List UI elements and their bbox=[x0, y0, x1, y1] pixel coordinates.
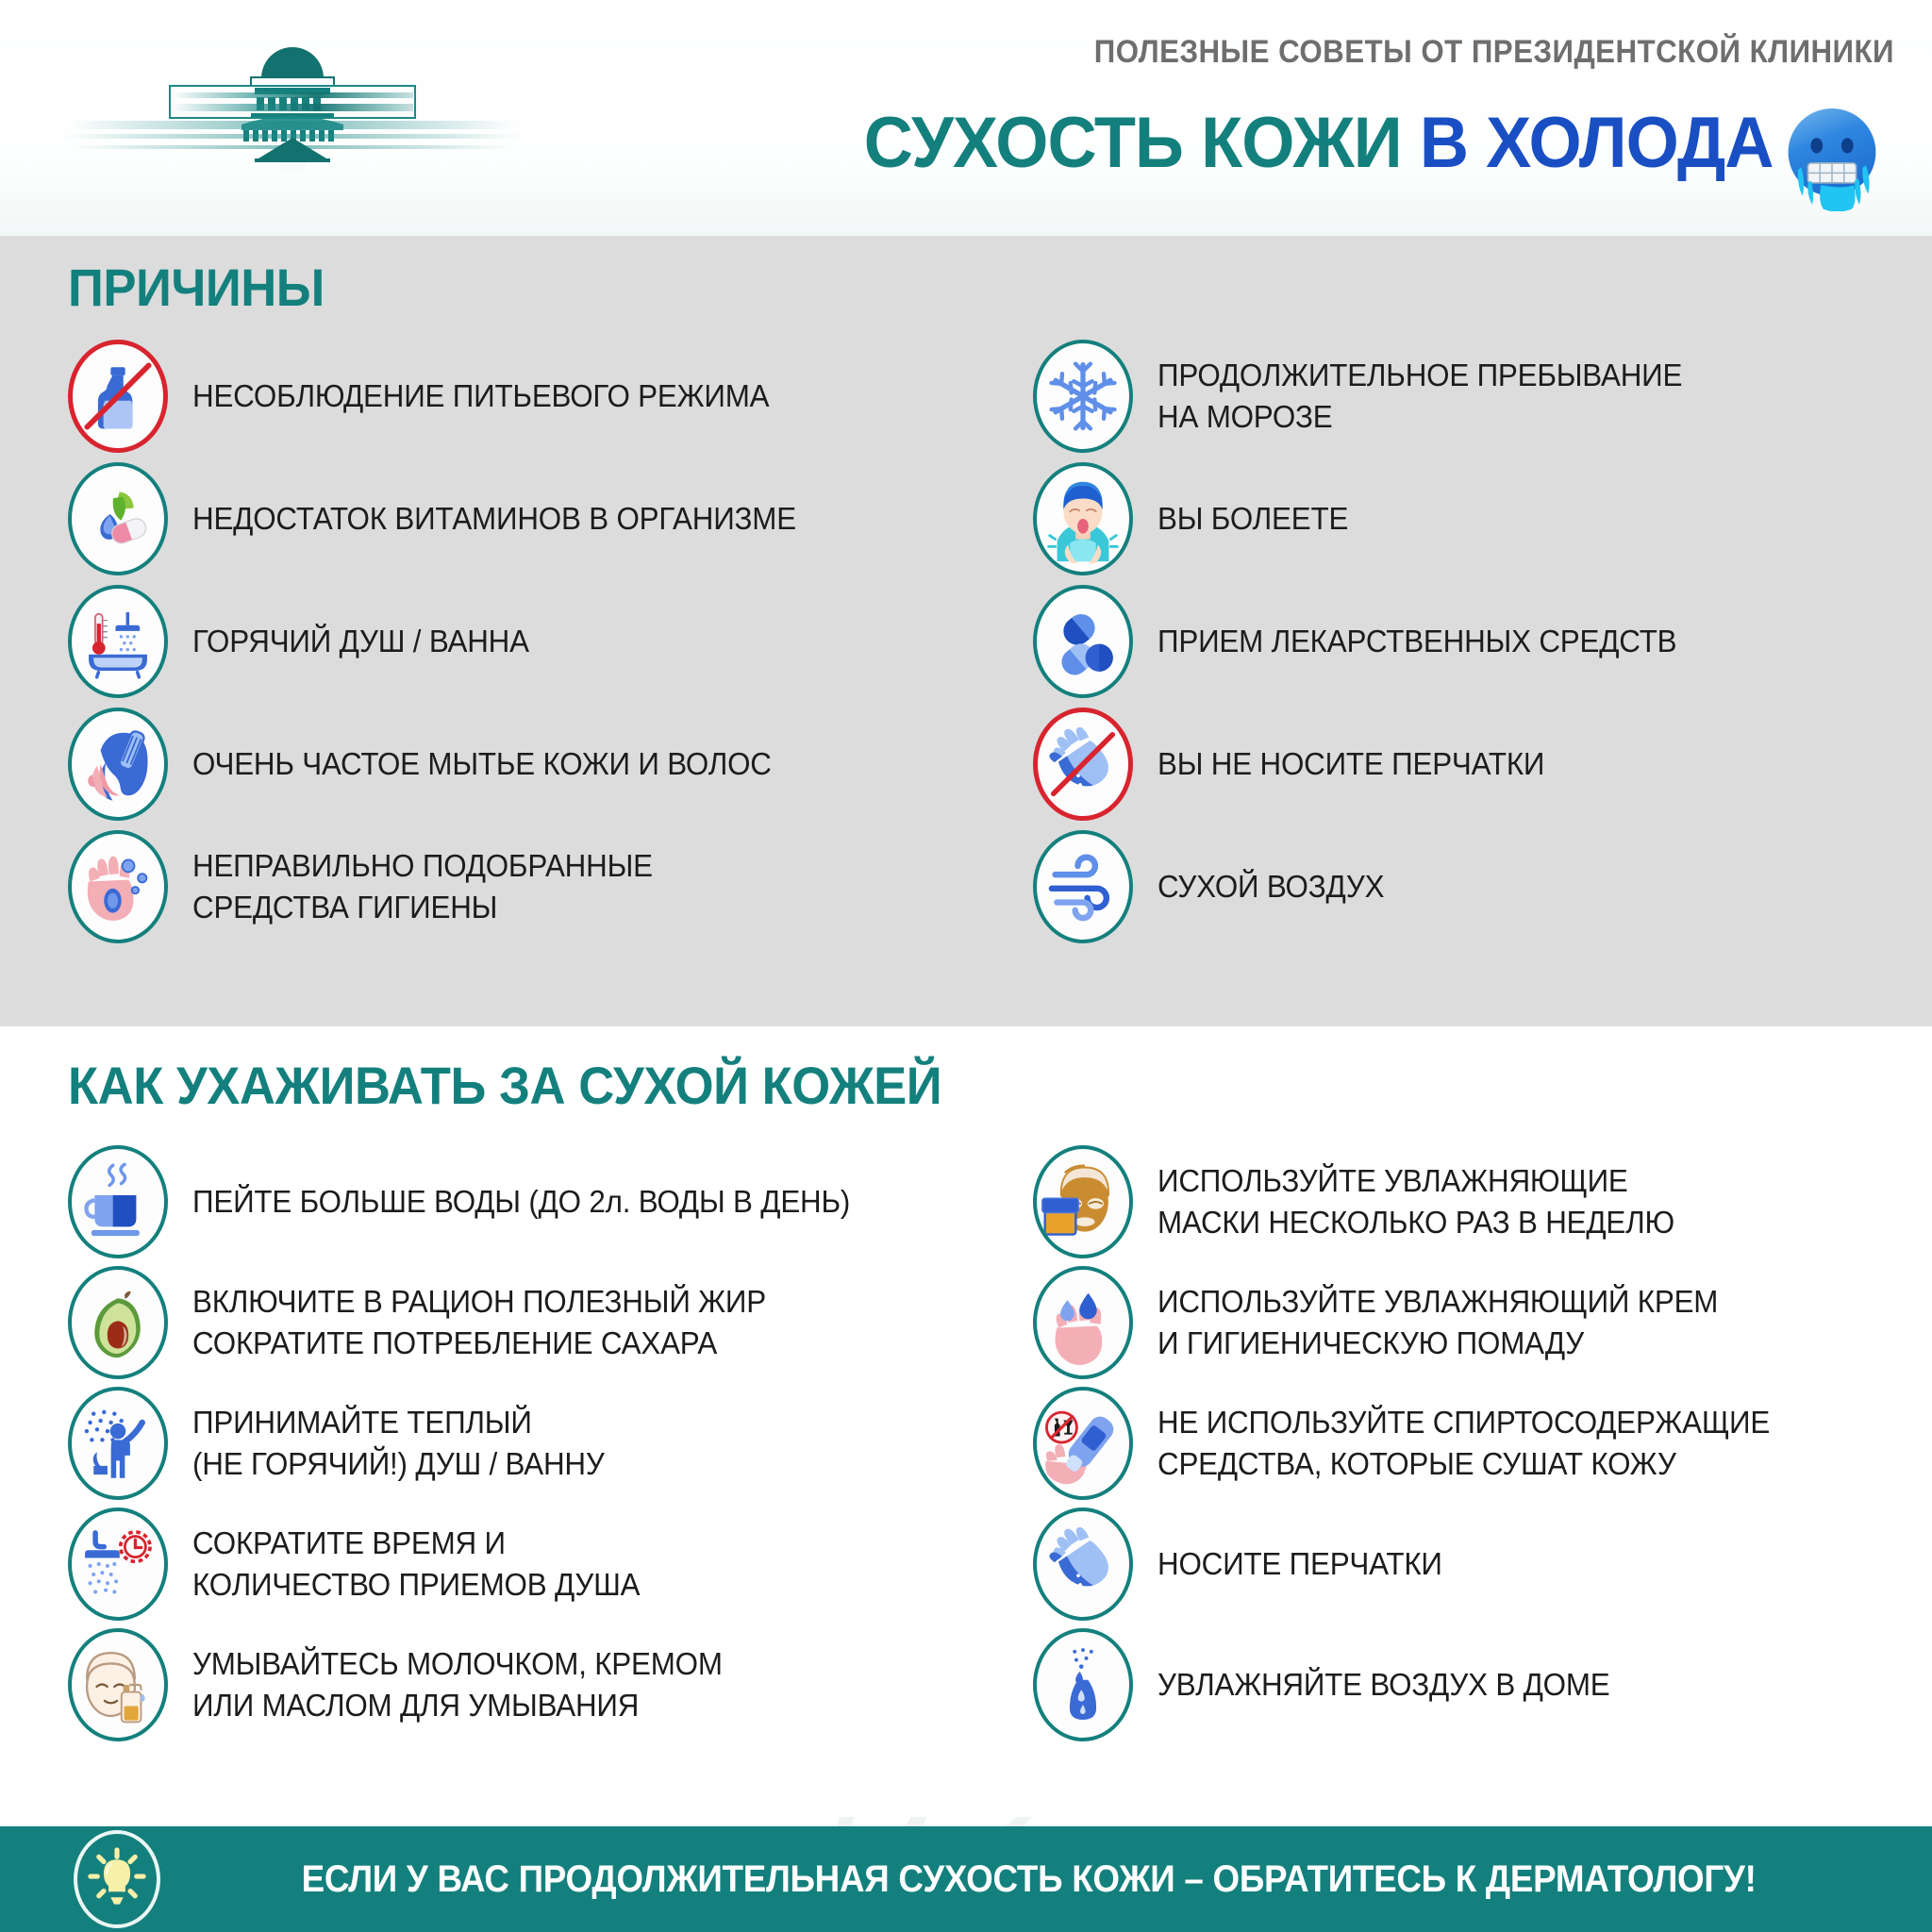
footer-bar: ЕСЛИ У ВАС ПРОДОЛЖИТЕЛЬНАЯ СУХОСТЬ КОЖИ … bbox=[0, 1826, 1932, 1932]
no-water-bottle-icon bbox=[68, 340, 168, 453]
humidifier-icon bbox=[1033, 1628, 1133, 1741]
light-bulb-icon bbox=[74, 1830, 160, 1928]
gloves-icon bbox=[1033, 1507, 1133, 1621]
list-item[interactable]: УМЫВАЙТЕСЬ МОЛОЧКОМ, КРЕМОМ ИЛИ МАСЛОМ Д… bbox=[68, 1628, 750, 1741]
hot-drink-cup-icon bbox=[68, 1145, 168, 1258]
list-item-label: ГОРЯЧИЙ ДУШ / ВАННА bbox=[192, 621, 529, 662]
sick-person-icon bbox=[1033, 462, 1133, 575]
hair-washing-icon bbox=[68, 708, 168, 821]
poster-header: ПОЛЕЗНЫЕ СОВЕТЫ ОТ ПРЕЗИДЕНТСКОЙ КЛИНИКИ… bbox=[0, 0, 1932, 236]
avocado-icon bbox=[68, 1266, 168, 1379]
list-item-label: ВЫ НЕ НОСИТЕ ПЕРЧАТКИ bbox=[1158, 743, 1544, 785]
causes-section: ПРИЧИНЫ НЕСОБЛЮДЕНИЕ ПИТЬЕВОГО РЕЖИМА bbox=[0, 236, 1932, 1026]
list-item[interactable]: НОСИТЕ ПЕРЧАТКИ bbox=[1033, 1507, 1457, 1621]
list-item[interactable]: ВКЛЮЧИТЕ В РАЦИОН ПОЛЕЗНЫЙ ЖИР СОКРАТИТЕ… bbox=[68, 1266, 796, 1379]
list-item-label: НЕ ИСПОЛЬЗУЙТЕ СПИРТОСОДЕРЖАЩИЕ СРЕДСТВА… bbox=[1158, 1402, 1770, 1484]
list-item-label: СОКРАТИТЕ ВРЕМЯ И КОЛИЧЕСТВО ПРИЕМОВ ДУШ… bbox=[192, 1523, 640, 1605]
presidential-clinic-building-logo bbox=[57, 26, 528, 215]
list-item-label: ИСПОЛЬЗУЙТЕ УВЛАЖНЯЮЩИЕ МАСКИ НЕСКОЛЬКО … bbox=[1158, 1160, 1674, 1242]
hygiene-products-hand-icon bbox=[68, 830, 168, 943]
face-cleansing-milk-icon bbox=[68, 1628, 168, 1741]
list-item-label: ПРОДОЛЖИТЕЛЬНОЕ ПРЕБЫВАНИЕ НА МОРОЗЕ bbox=[1158, 355, 1682, 437]
footer-message: ЕСЛИ У ВАС ПРОДОЛЖИТЕЛЬНАЯ СУХОСТЬ КОЖИ … bbox=[231, 1858, 1861, 1901]
list-item-label: ВКЛЮЧИТЕ В РАЦИОН ПОЛЕЗНЫЙ ЖИР СОКРАТИТЕ… bbox=[192, 1281, 766, 1363]
dry-air-wind-icon bbox=[1033, 830, 1133, 943]
list-item[interactable]: СОКРАТИТЕ ВРЕМЯ И КОЛИЧЕСТВО ПРИЕМОВ ДУШ… bbox=[68, 1507, 663, 1621]
list-item[interactable]: ПРИНИМАЙТЕ ТЕПЛЫЙ (НЕ ГОРЯЧИЙ!) ДУШ / ВА… bbox=[68, 1387, 626, 1500]
warm-shower-person-icon bbox=[68, 1387, 168, 1500]
list-item-label: УВЛАЖНЯЙТЕ ВОЗДУХ В ДОМЕ bbox=[1158, 1664, 1609, 1706]
vitamins-pills-icon bbox=[68, 462, 168, 575]
list-item[interactable]: НЕ ИСПОЛЬЗУЙТЕ СПИРТОСОДЕРЖАЩИЕ СРЕДСТВА… bbox=[1033, 1387, 1802, 1500]
infographic-poster: БМЦ БМЦ БМЦ БМЦ БМЦ БМЦ bbox=[0, 0, 1932, 1932]
list-item[interactable]: ПРОДОЛЖИТЕЛЬНОЕ ПРЕБЫВАНИЕ НА МОРОЗЕ bbox=[1033, 340, 1710, 453]
shower-timer-icon bbox=[68, 1507, 168, 1621]
list-item-label: ПЕЙТЕ БОЛЬШЕ ВОДЫ (ДО 2л. ВОДЫ В ДЕНЬ) bbox=[192, 1181, 850, 1223]
list-item-label: ПРИНИМАЙТЕ ТЕПЛЫЙ (НЕ ГОРЯЧИЙ!) ДУШ / ВА… bbox=[192, 1402, 605, 1484]
care-section: КАК УХАЖИВАТЬ ЗА СУХОЙ КОЖЕЙ bbox=[0, 1026, 1932, 1817]
list-item-label: НЕПРАВИЛЬНО ПОДОБРАННЫЕ СРЕДСТВА ГИГИЕНЫ bbox=[192, 845, 653, 927]
list-item-label: НОСИТЕ ПЕРЧАТКИ bbox=[1158, 1543, 1442, 1585]
list-item-label: ПРИЕМ ЛЕКАРСТВЕННЫХ СРЕДСТВ bbox=[1158, 621, 1676, 662]
list-item[interactable]: ВЫ БОЛЕЕТЕ bbox=[1033, 462, 1358, 575]
list-item[interactable]: УВЛАЖНЯЙТЕ ВОЗДУХ В ДОМЕ bbox=[1033, 1628, 1634, 1741]
page-title-part2: В ХОЛОДА bbox=[1420, 103, 1774, 183]
list-item[interactable]: ИСПОЛЬЗУЙТЕ УВЛАЖНЯЮЩИЕ МАСКИ НЕСКОЛЬКО … bbox=[1033, 1145, 1702, 1258]
list-item[interactable]: НЕДОСТАТОК ВИТАМИНОВ В ОРГАНИЗМЕ bbox=[68, 462, 828, 575]
list-item[interactable]: НЕПРАВИЛЬНО ПОДОБРАННЫЕ СРЕДСТВА ГИГИЕНЫ bbox=[68, 830, 677, 943]
list-item-label: ИСПОЛЬЗУЙТЕ УВЛАЖНЯЮЩИЙ КРЕМ И ГИГИЕНИЧЕ… bbox=[1158, 1281, 1718, 1363]
list-item-label: НЕДОСТАТОК ВИТАМИНОВ В ОРГАНИЗМЕ bbox=[192, 498, 796, 540]
snowflake-icon bbox=[1033, 340, 1133, 453]
list-item-label: НЕСОБЛЮДЕНИЕ ПИТЬЕВОГО РЕЖИМА bbox=[192, 375, 769, 417]
moisturizing-hand-icon bbox=[1033, 1266, 1133, 1379]
list-item[interactable]: ПРИЕМ ЛЕКАРСТВЕННЫХ СРЕДСТВ bbox=[1033, 585, 1704, 698]
list-item[interactable]: ГОРЯЧИЙ ДУШ / ВАННА bbox=[68, 585, 547, 698]
no-alcohol-product-icon bbox=[1033, 1387, 1133, 1500]
list-item[interactable]: ВЫ НЕ НОСИТЕ ПЕРЧАТКИ bbox=[1033, 708, 1565, 821]
face-mask-icon bbox=[1033, 1145, 1133, 1258]
no-gloves-icon bbox=[1033, 708, 1133, 821]
list-item[interactable]: ИСПОЛЬЗУЙТЕ УВЛАЖНЯЮЩИЙ КРЕМ И ГИГИЕНИЧЕ… bbox=[1033, 1266, 1748, 1379]
list-item[interactable]: СУХОЙ ВОЗДУХ bbox=[1033, 830, 1396, 943]
list-item[interactable]: ОЧЕНЬ ЧАСТОЕ МЫТЬЕ КОЖИ И ВОЛОС bbox=[68, 708, 802, 821]
page-title-part1: СУХОСТЬ КОЖИ bbox=[864, 103, 1420, 183]
causes-section-title: ПРИЧИНЫ bbox=[68, 257, 325, 318]
hot-bath-thermometer-icon bbox=[68, 585, 168, 698]
header-kicker: ПОЛЕЗНЫЕ СОВЕТЫ ОТ ПРЕЗИДЕНТСКОЙ КЛИНИКИ bbox=[1094, 34, 1894, 71]
list-item-label: ОЧЕНЬ ЧАСТОЕ МЫТЬЕ КОЖИ И ВОЛОС bbox=[192, 743, 772, 785]
care-section-title: КАК УХАЖИВАТЬ ЗА СУХОЙ КОЖЕЙ bbox=[68, 1055, 941, 1116]
list-item-label: СУХОЙ ВОЗДУХ bbox=[1158, 866, 1384, 908]
medicine-capsules-icon bbox=[1033, 585, 1133, 698]
cold-face-emoji bbox=[1777, 102, 1887, 211]
page-title: СУХОСТЬ КОЖИ В ХОЛОДА bbox=[864, 102, 1774, 184]
list-item-label: ВЫ БОЛЕЕТЕ bbox=[1158, 498, 1348, 540]
list-item-label: УМЫВАЙТЕСЬ МОЛОЧКОМ, КРЕМОМ ИЛИ МАСЛОМ Д… bbox=[192, 1643, 723, 1725]
list-item[interactable]: ПЕЙТЕ БОЛЬШЕ ВОДЫ (ДО 2л. ВОДЫ В ДЕНЬ) bbox=[68, 1145, 885, 1258]
list-item[interactable]: НЕСОБЛЮДЕНИЕ ПИТЬЕВОГО РЕЖИМА bbox=[68, 340, 800, 453]
